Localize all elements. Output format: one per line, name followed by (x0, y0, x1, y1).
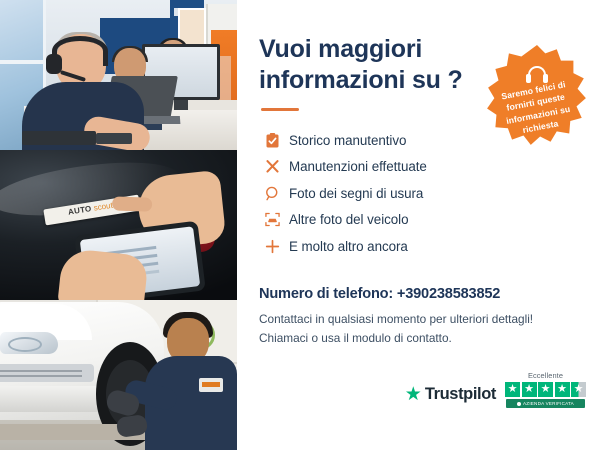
keyboard-decor (22, 131, 96, 145)
callout-badge: Saremo felici di fornirti queste informa… (485, 44, 589, 148)
feature-item-foto-usura[interactable]: Foto dei segni di usura (259, 180, 584, 207)
page-title: Vuoi maggiori informazioni su ? (259, 34, 474, 95)
photo-column: AUTOscout (0, 0, 237, 450)
car-scan-icon (259, 212, 285, 227)
star-4: ★ (555, 382, 570, 397)
contact-subtext-line1: Contattaci in qualsiasi momento per ulte… (259, 310, 584, 329)
feature-label: Storico manutentivo (289, 133, 406, 148)
trustpilot-rating-label: Eccellente (528, 371, 563, 380)
verified-business-badge: AZIENDA VERIFICATA (506, 399, 585, 408)
title-divider (261, 108, 299, 111)
contact-subtext: Contattaci in qualsiasi momento per ulte… (259, 310, 584, 348)
clipboard-check-icon (259, 133, 285, 148)
feature-label: E molto altro ancora (289, 239, 408, 254)
promo-card: AUTOscout Vuoi maggiori informazioni su (0, 0, 600, 450)
feature-item-manutenzioni[interactable]: Manutenzioni effettuate (259, 154, 584, 181)
headset-icon (526, 66, 548, 82)
trustpilot-star-icon: ★ (405, 385, 422, 404)
contact-subtext-line2: Chiamaci o usa il modulo di contatto. (259, 329, 584, 348)
phone-number[interactable]: Numero di telefono: +390238583852 (259, 286, 584, 302)
star-2: ★ (522, 382, 537, 397)
star-5-half: ★ (571, 382, 586, 397)
check-icon (517, 402, 521, 406)
trustpilot-rating-block: Eccellente ★ ★ ★ ★ ★ AZIENDA VERIFICATA (505, 371, 586, 409)
keyboard-2-decor (96, 133, 132, 144)
feature-label: Altre foto del veicolo (289, 212, 408, 227)
mechanic-wheel-photo (0, 300, 237, 450)
trustpilot-stars: ★ ★ ★ ★ ★ (505, 382, 586, 397)
feature-item-altre-foto[interactable]: Altre foto del veicolo (259, 207, 584, 234)
wrench-cross-icon (259, 159, 285, 174)
mechanic-decor (141, 312, 237, 450)
star-3: ★ (538, 382, 553, 397)
feature-item-altro-ancora[interactable]: E molto altro ancora (259, 233, 584, 260)
star-1: ★ (505, 382, 520, 397)
magnifier-icon (259, 186, 285, 201)
verified-label: AZIENDA VERIFICATA (523, 401, 574, 406)
trustpilot-logo: ★ Trustpilot (405, 385, 496, 404)
feature-label: Manutenzioni effettuate (289, 159, 427, 174)
plus-icon (259, 239, 285, 254)
content-panel: Vuoi maggiori informazioni su ? Saremo f… (237, 0, 600, 450)
trustpilot-widget[interactable]: ★ Trustpilot Eccellente ★ ★ ★ ★ ★ AZIEND… (405, 371, 586, 409)
tablet-inspection-photo: AUTOscout (0, 150, 237, 300)
feature-label: Foto dei segni di usura (289, 186, 423, 201)
call-center-operators-photo (0, 0, 237, 150)
trustpilot-brand: Trustpilot (425, 385, 496, 404)
